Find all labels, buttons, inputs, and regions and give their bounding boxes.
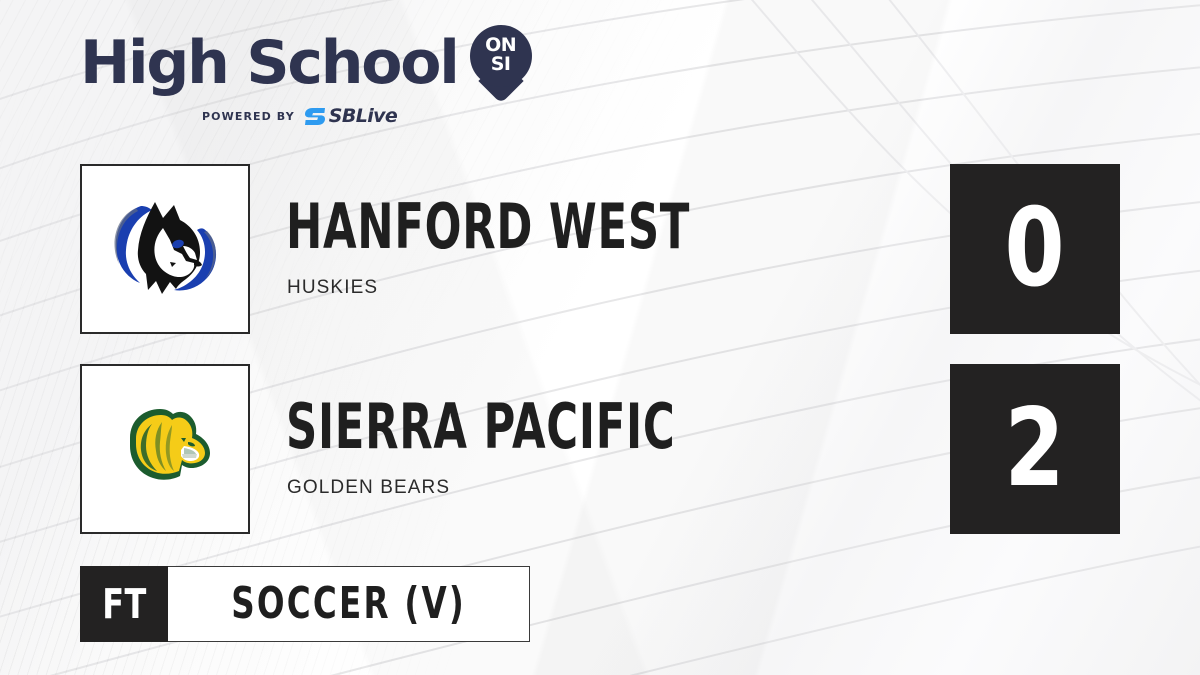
game-status-bar: FT SOCCER (V) xyxy=(80,566,530,642)
husky-head-logo-icon xyxy=(100,184,230,314)
powered-by-row: POWERED BY SBLive xyxy=(202,107,510,126)
team-logo-box xyxy=(80,364,250,534)
team-score: 2 xyxy=(1005,395,1065,503)
on-si-pin-icon: ON SI xyxy=(470,25,510,101)
team-name: SIERRA PACIFIC xyxy=(286,396,675,458)
game-period-badge: FT xyxy=(80,566,168,642)
team-score-box: 0 xyxy=(950,164,1120,334)
team-mascot: GOLDEN BEARS xyxy=(287,478,450,497)
sblive-s-glyph-icon xyxy=(304,107,326,126)
powered-by-label: POWERED BY xyxy=(202,110,295,123)
sblive-logo: SBLive xyxy=(304,107,397,126)
team-text-block: SIERRA PACIFIC GOLDEN BEARS xyxy=(286,364,926,534)
team-text-block: HANFORD WEST HUSKIES xyxy=(286,164,926,334)
sport-label-box: SOCCER (V) xyxy=(168,566,530,642)
team-score-box: 2 xyxy=(950,364,1120,534)
team-row: SIERRA PACIFIC GOLDEN BEARS 2 xyxy=(0,364,1200,534)
team-score: 0 xyxy=(1005,195,1065,303)
on-si-line-2: SI xyxy=(470,55,532,74)
sblive-wordmark: SBLive xyxy=(329,107,397,126)
team-logo-box xyxy=(80,164,250,334)
brand-header: High School ON SI POWERED BY SBLive xyxy=(80,26,510,141)
game-period-label: FT xyxy=(102,584,146,625)
team-name: HANFORD WEST xyxy=(286,196,690,258)
brand-title: High School xyxy=(80,33,458,93)
on-si-label: ON SI xyxy=(470,36,532,74)
brand-wordmark-row: High School ON SI xyxy=(80,26,510,100)
sport-label: SOCCER (V) xyxy=(231,582,466,626)
team-row: HANFORD WEST HUSKIES 0 xyxy=(0,164,1200,334)
golden-bear-head-logo-icon xyxy=(100,384,230,514)
scoreboard-graphic: High School ON SI POWERED BY SBLive xyxy=(0,0,1200,675)
team-mascot: HUSKIES xyxy=(287,278,378,297)
